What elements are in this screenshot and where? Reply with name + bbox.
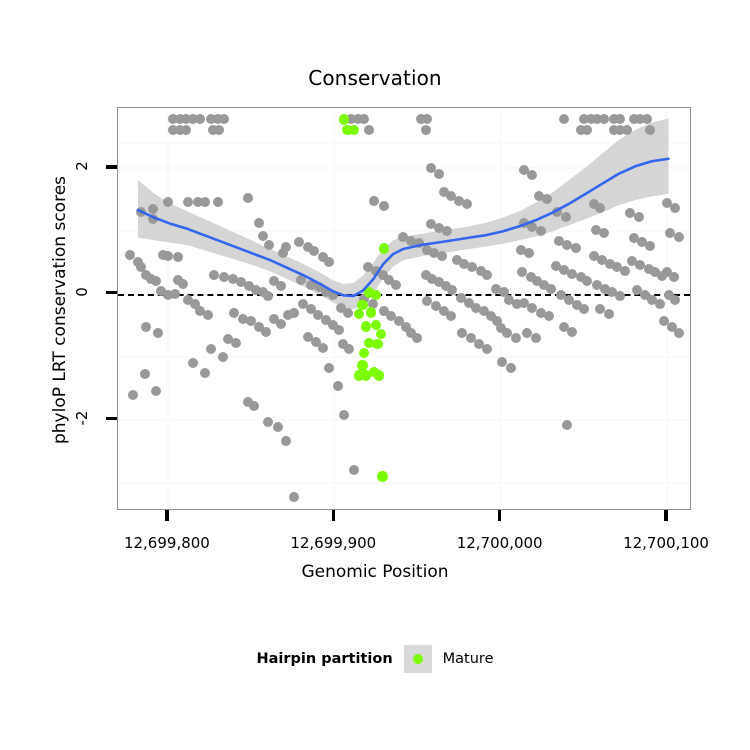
legend: Hairpin partition Mature xyxy=(0,645,750,673)
legend-key-mature[interactable] xyxy=(404,645,432,673)
x-axis-label: Genomic Position xyxy=(0,562,750,582)
x-tick-label: 12,700,100 xyxy=(591,534,741,552)
x-tick-label: 12,699,900 xyxy=(258,534,408,552)
x-tick-mark xyxy=(498,510,501,521)
conservation-plot-figure: Conservation phyloP LRT conservation sco… xyxy=(0,0,750,750)
legend-label-mature: Mature xyxy=(443,651,494,667)
x-tick-mark xyxy=(332,510,335,521)
y-tick-label: 0 xyxy=(73,272,91,312)
y-tick-label: -2 xyxy=(73,398,91,438)
legend-title: Hairpin partition xyxy=(256,651,392,667)
x-tick-label: 12,700,000 xyxy=(425,534,575,552)
x-tick-mark xyxy=(664,510,667,521)
x-tick-label: 12,699,800 xyxy=(92,534,242,552)
x-tick-mark xyxy=(165,510,168,521)
plot-panel xyxy=(117,107,691,510)
y-axis-label: phyloP LRT conservation scores xyxy=(50,100,70,520)
y-tick-mark xyxy=(106,291,117,294)
plot-title: Conservation xyxy=(0,66,750,90)
loess-trend-line xyxy=(118,108,690,509)
y-tick-label: 2 xyxy=(73,146,91,186)
y-tick-mark xyxy=(106,417,117,420)
legend-dot-icon xyxy=(413,654,423,664)
y-tick-mark xyxy=(106,165,117,168)
